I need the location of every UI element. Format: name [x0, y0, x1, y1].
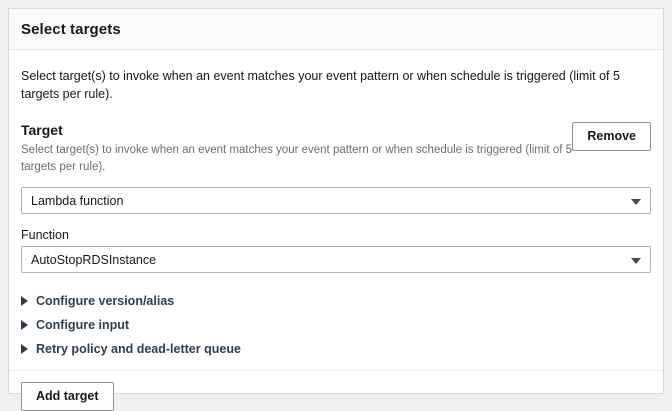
target-description: Select target(s) to invoke when an event… — [21, 142, 572, 175]
footer-actions: Add target — [21, 371, 651, 410]
panel-intro-text: Select target(s) to invoke when an event… — [21, 50, 643, 105]
expandable-retry-policy-dlq[interactable]: Retry policy and dead-letter queue — [21, 337, 651, 361]
chevron-down-icon — [631, 199, 641, 205]
target-section: Target Select target(s) to invoke when a… — [21, 122, 651, 361]
expandable-configure-version-alias[interactable]: Configure version/alias — [21, 289, 651, 313]
expandable-label: Configure version/alias — [36, 294, 174, 308]
function-field: Function AutoStopRDSInstance — [21, 228, 651, 273]
function-selected-value: AutoStopRDSInstance — [31, 253, 156, 267]
function-label: Function — [21, 228, 651, 242]
target-type-selected-value: Lambda function — [31, 194, 123, 208]
panel-header: Select targets — [9, 9, 663, 50]
select-targets-panel: Select targets Select target(s) to invok… — [8, 8, 664, 394]
expandable-label: Configure input — [36, 318, 129, 332]
page-title: Select targets — [21, 21, 121, 38]
triangle-right-icon — [21, 344, 28, 354]
add-target-button[interactable]: Add target — [21, 382, 114, 410]
chevron-down-icon — [631, 258, 641, 264]
function-select[interactable]: AutoStopRDSInstance — [21, 246, 651, 273]
expandable-label: Retry policy and dead-letter queue — [36, 342, 241, 356]
target-header-row: Target Select target(s) to invoke when a… — [21, 122, 651, 175]
target-header-text: Target Select target(s) to invoke when a… — [21, 122, 572, 175]
target-type-select[interactable]: Lambda function — [21, 187, 651, 214]
triangle-right-icon — [21, 296, 28, 306]
triangle-right-icon — [21, 320, 28, 330]
target-heading: Target — [21, 122, 572, 139]
remove-target-button[interactable]: Remove — [572, 122, 651, 150]
expandable-sections: Configure version/alias Configure input … — [21, 289, 651, 361]
panel-body: Select target(s) to invoke when an event… — [9, 50, 663, 411]
expandable-configure-input[interactable]: Configure input — [21, 313, 651, 337]
